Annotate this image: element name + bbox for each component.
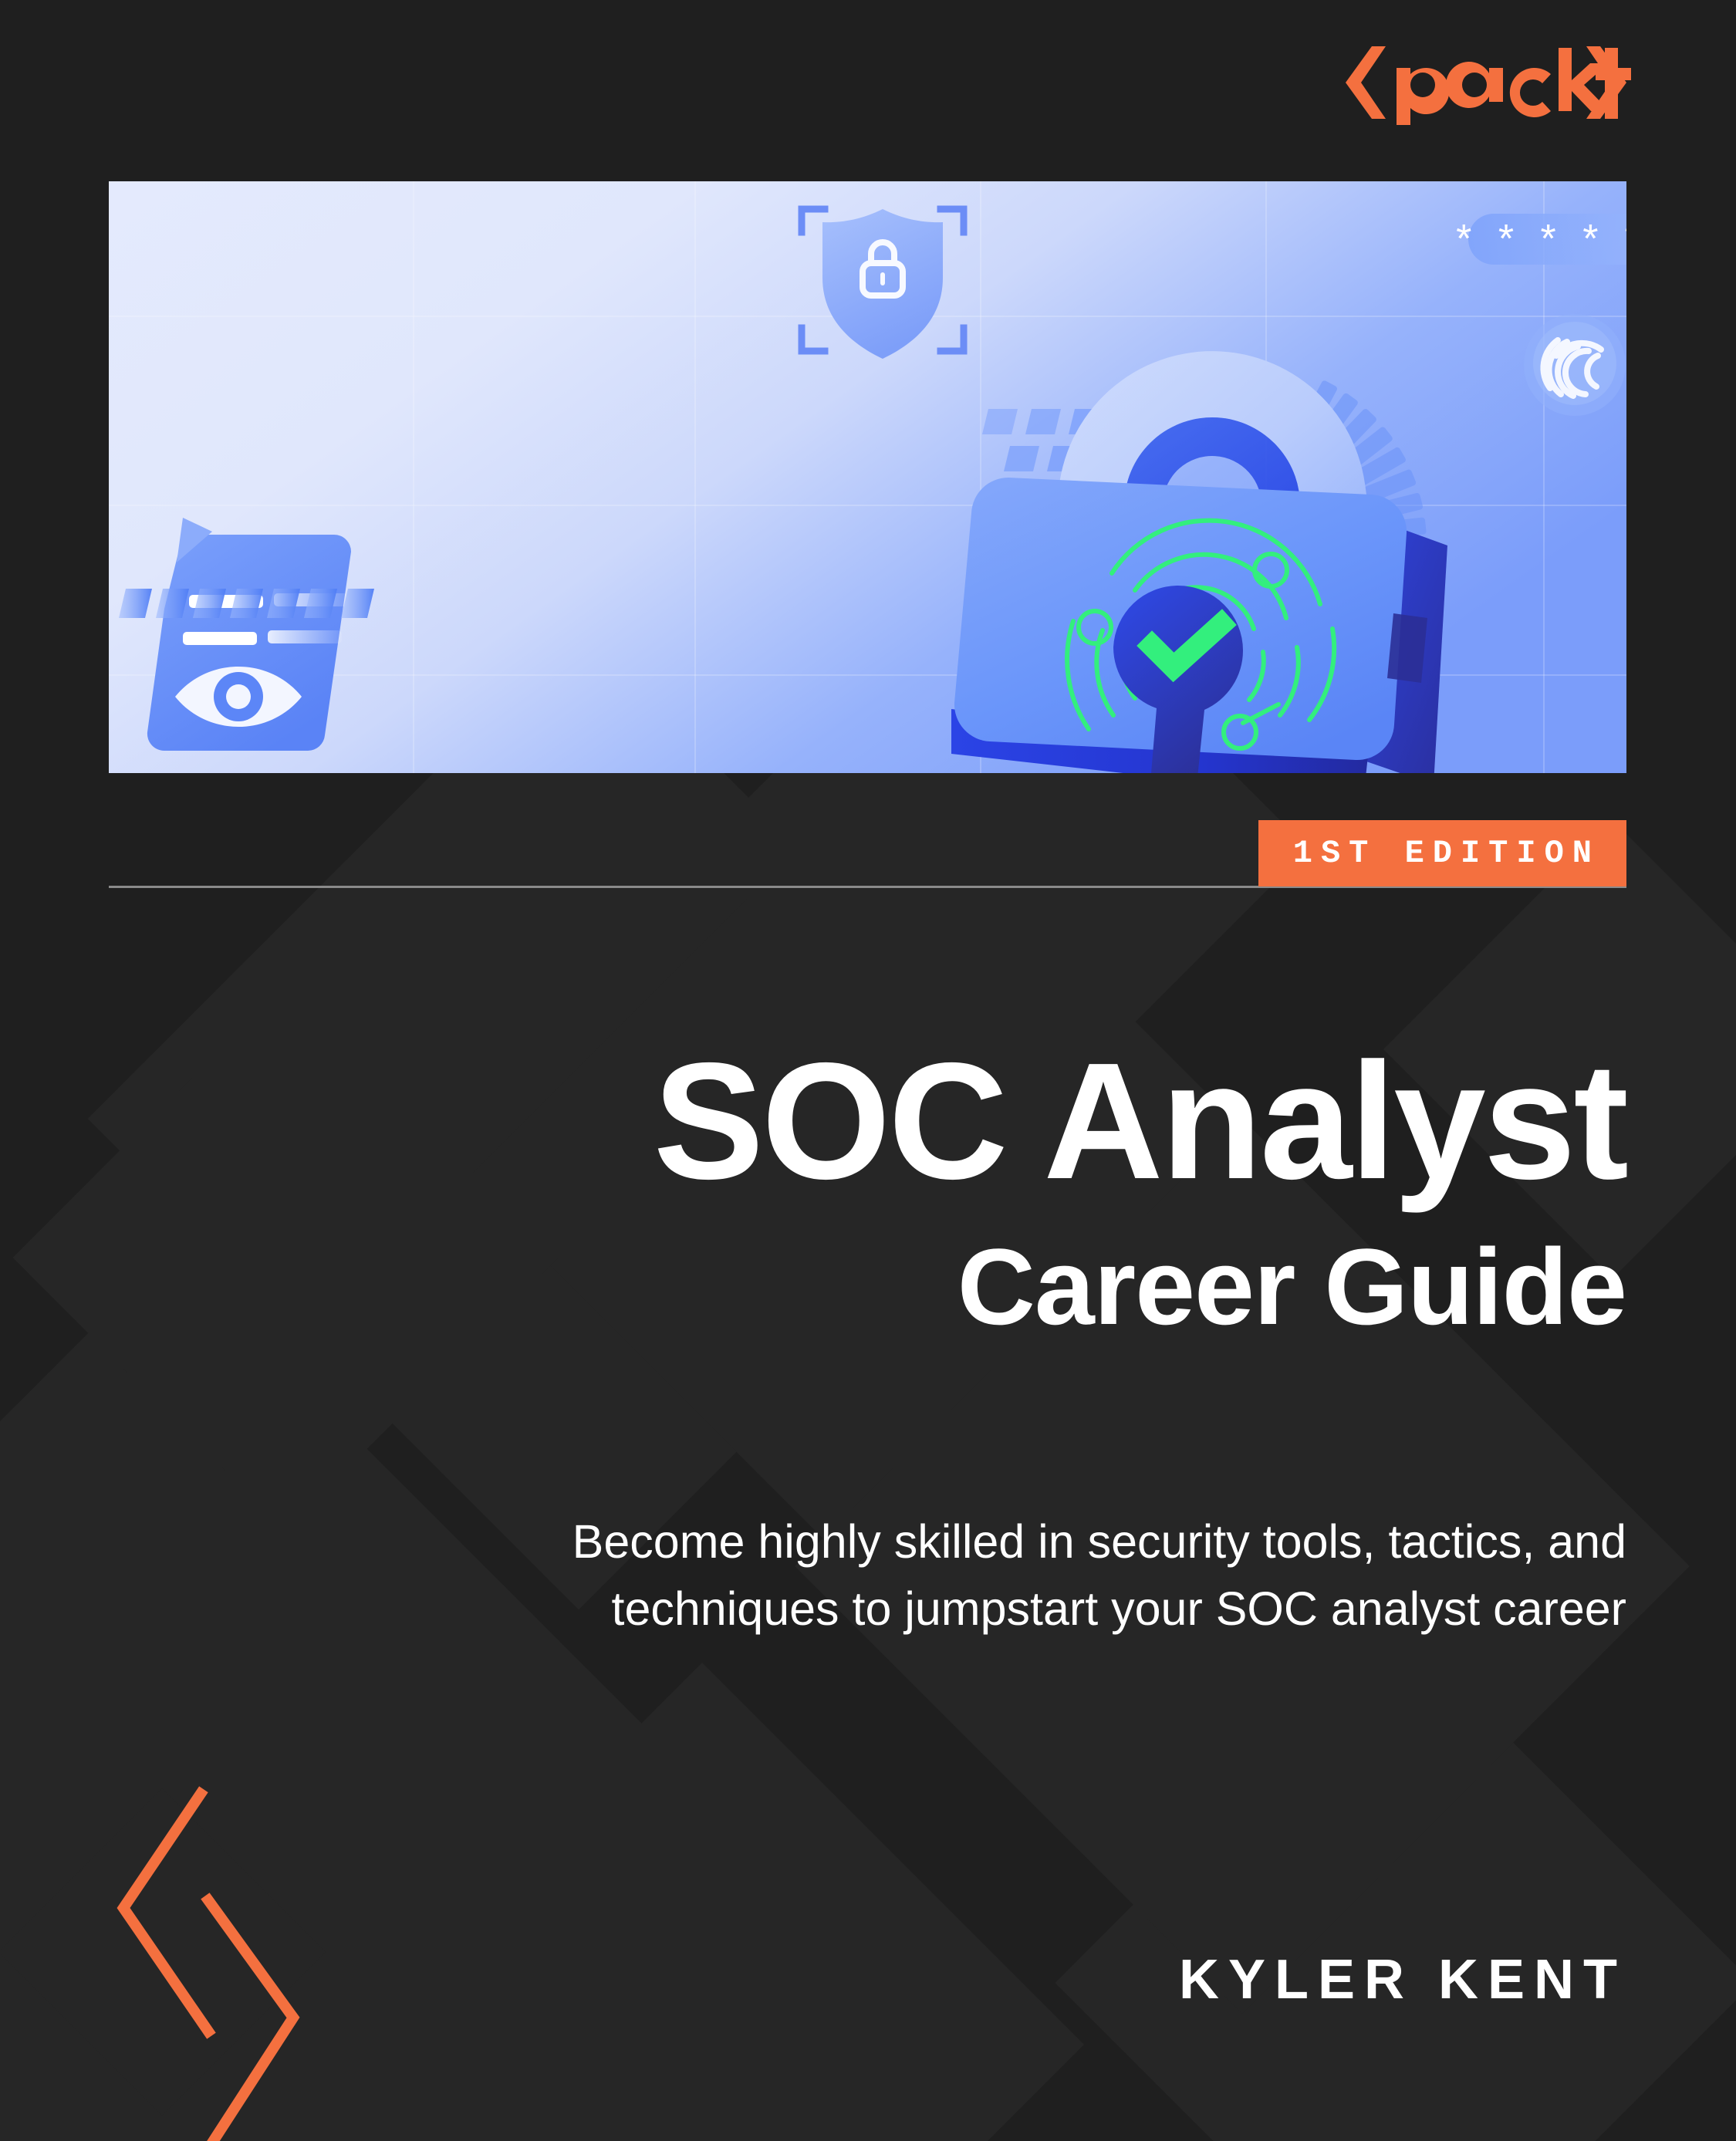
packt-logo (1338, 40, 1631, 125)
title-block: SOC Analyst Career Guide (315, 1038, 1626, 1341)
book-cover: * * * * * * 1ST EDITION SOC (0, 0, 1736, 2141)
edition-badge: 1ST EDITION (1258, 820, 1626, 886)
brand-chevron-mark (93, 1786, 347, 2141)
book-subtitle-line1: Become highly skilled in security tools,… (469, 1508, 1626, 1575)
book-title-line1: SOC Analyst (315, 1038, 1626, 1204)
hero-illustration: * * * * * * (109, 181, 1626, 773)
fingerprint-icon (1524, 314, 1626, 416)
book-subtitle-line2: techniques to jumpstart your SOC analyst… (469, 1575, 1626, 1643)
author-name: KYLER KENT (1179, 1948, 1626, 2011)
book-title-line2: Career Guide (315, 1233, 1626, 1341)
book-subtitle: Become highly skilled in security tools,… (469, 1508, 1626, 1642)
password-field: * * * * * * (1456, 214, 1626, 265)
password-dots: * * * * * * (1456, 217, 1626, 262)
